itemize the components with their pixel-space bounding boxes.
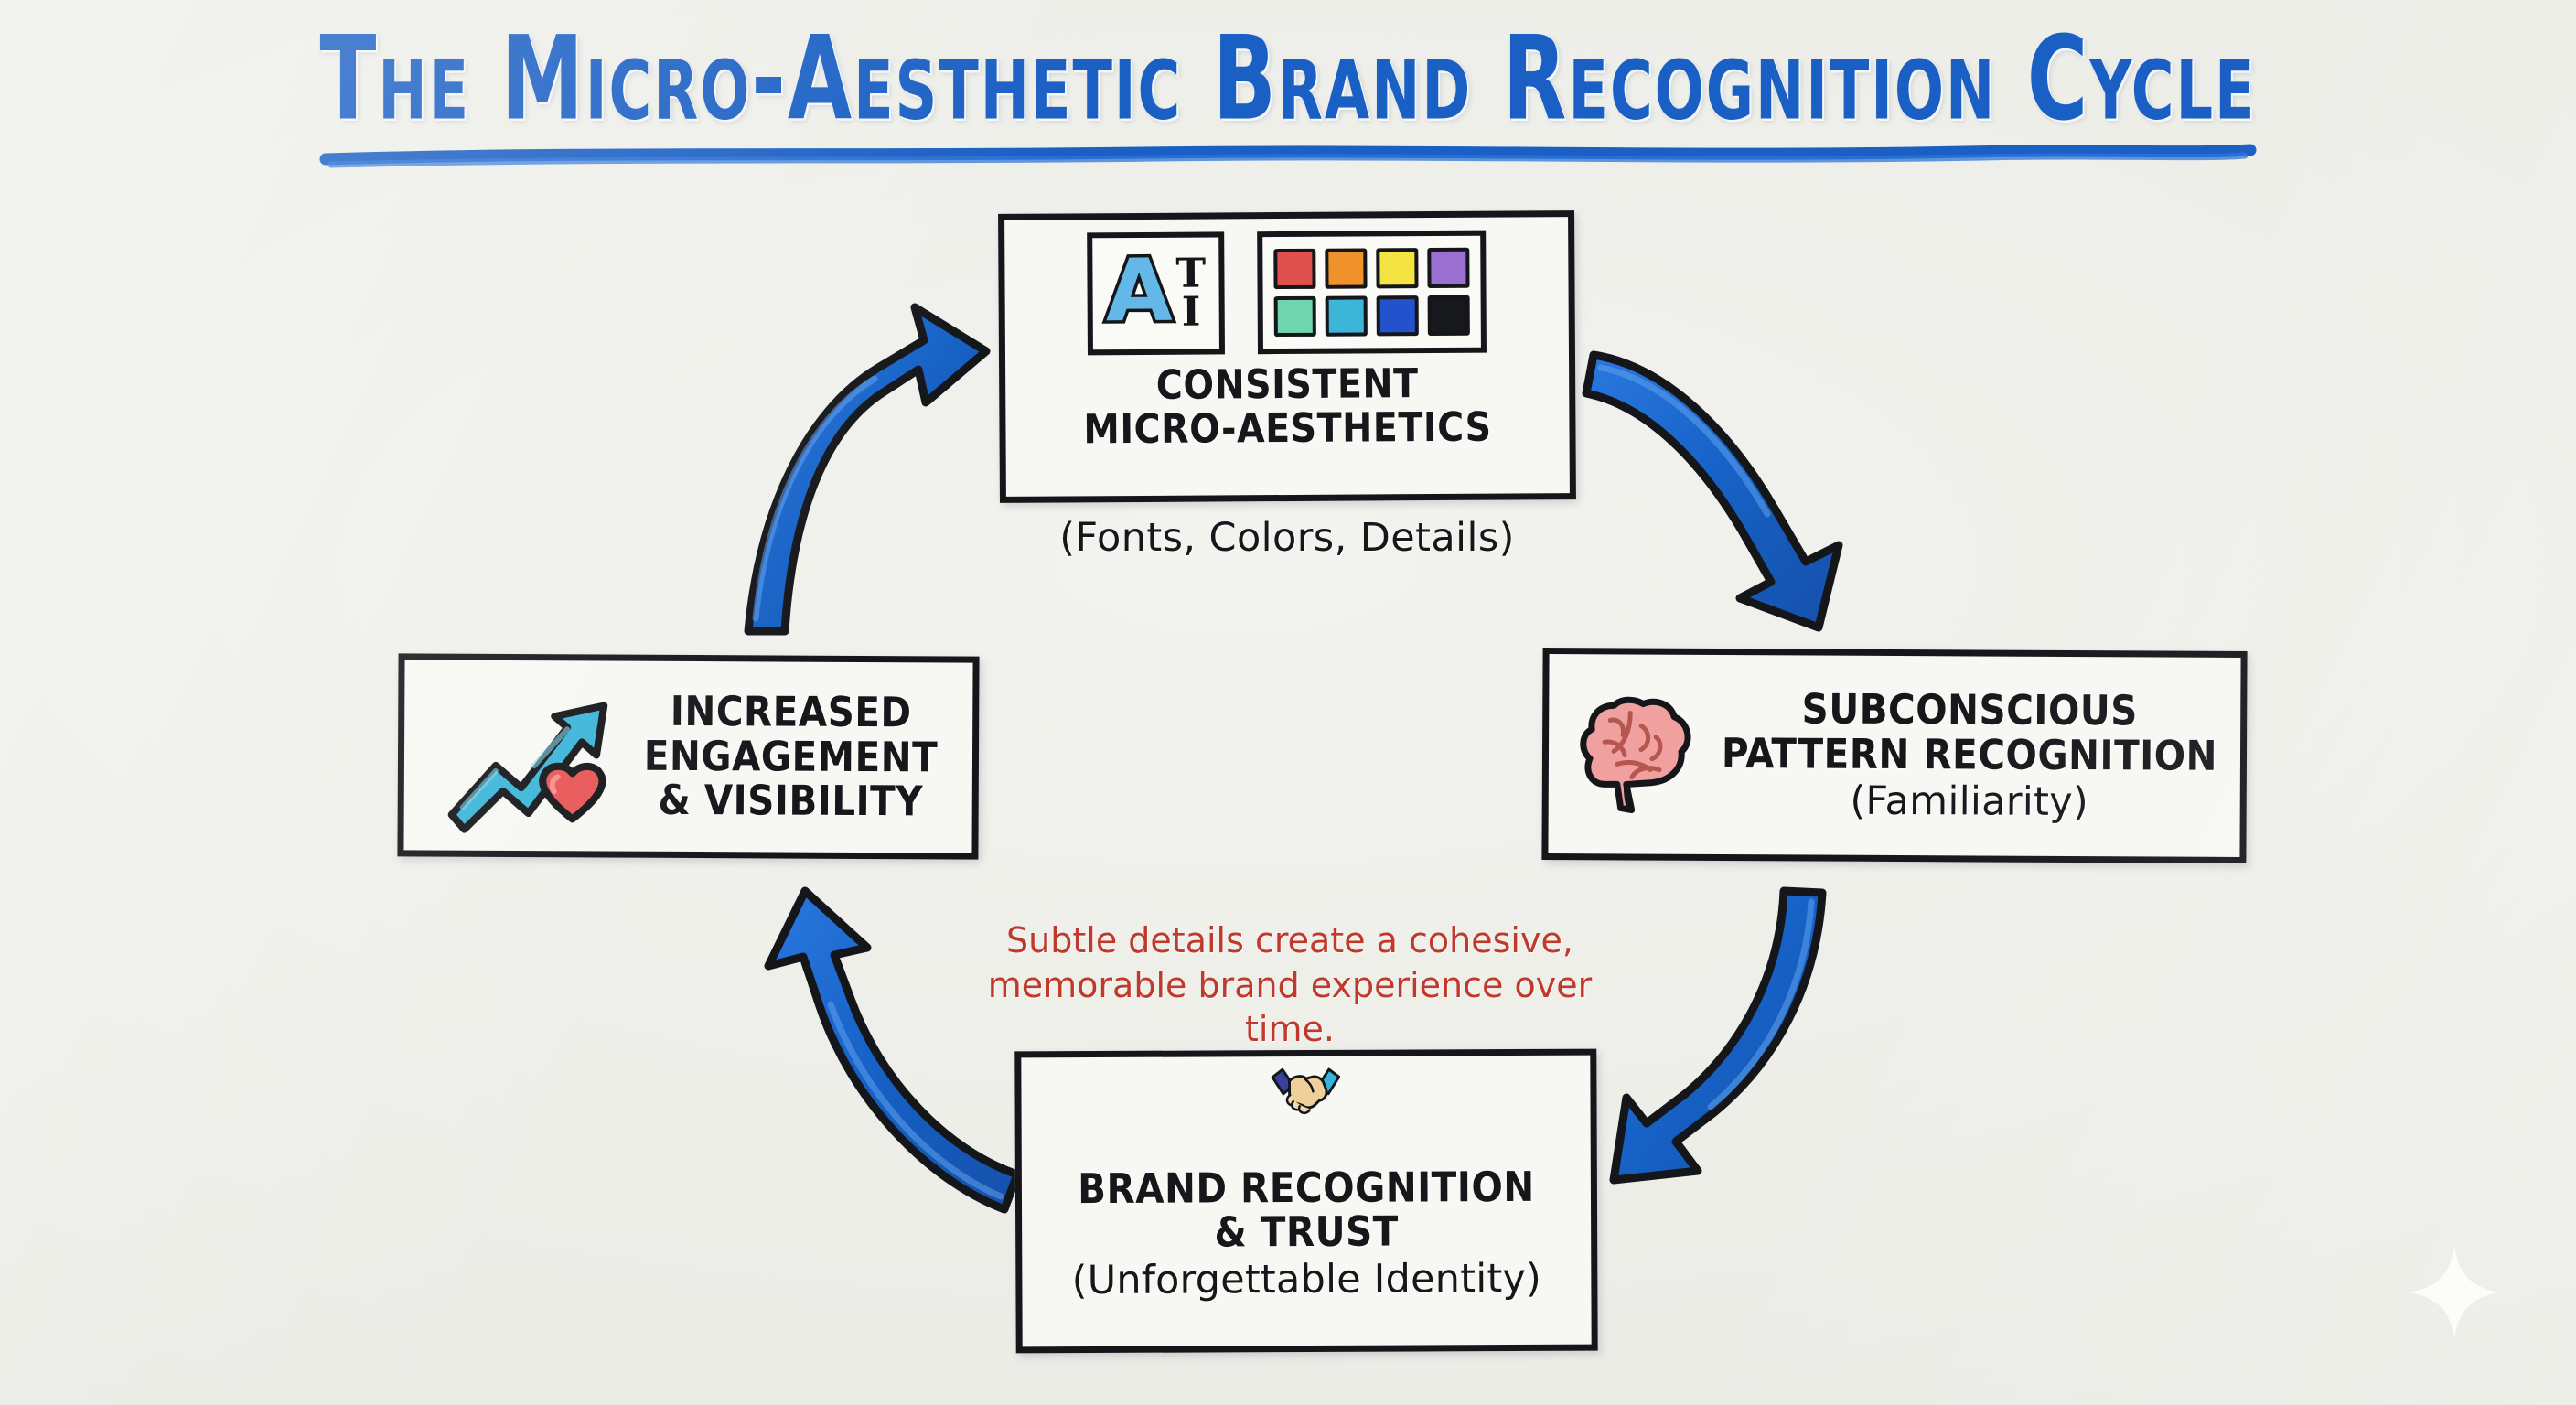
node-brand-recognition-trust[interactable]: BRAND RECOGNITION & TRUST (Unforgettable… <box>1014 1049 1597 1354</box>
node-title-subconscious-pattern-recognition: SUBCONSCIOUS PATTERN RECOGNITION (Famili… <box>1721 643 2217 870</box>
sparkle-icon <box>2404 1242 2505 1343</box>
palette-grid <box>1273 248 1470 337</box>
right-title-main: SUBCONSCIOUS PATTERN RECOGNITION <box>1722 685 2217 780</box>
swatch-black <box>1428 295 1470 336</box>
brain-icon <box>1577 689 1699 820</box>
color-palette-icon <box>1257 231 1487 355</box>
page-title-wrap: The Micro-Aesthetic Brand Recognition Cy… <box>0 20 2576 115</box>
node-title-consistent-micro-aesthetics: CONSISTENT MICRO-AESTHETICS <box>1083 362 1492 452</box>
node-consistent-micro-aesthetics[interactable]: A T I CONSISTENT MICRO-A <box>998 210 1576 503</box>
swatch-blue <box>1377 295 1419 336</box>
node-title-brand-recognition-trust: BRAND RECOGNITION & TRUST (Unforgettable… <box>1071 1121 1542 1346</box>
glyph-t: T <box>1175 255 1206 293</box>
node-subconscious-pattern-recognition[interactable]: SUBCONSCIOUS PATTERN RECOGNITION (Famili… <box>1541 648 2247 863</box>
node-increased-engagement-visibility[interactable]: INCREASED ENGAGEMENT & VISIBILITY <box>397 653 979 859</box>
swatch-red <box>1273 249 1315 289</box>
swatch-yellow <box>1376 248 1418 288</box>
center-caption: Subtle details create a cohesive, memora… <box>970 918 1610 1052</box>
title-underline <box>318 139 2258 170</box>
swatch-cyan <box>1326 295 1368 336</box>
top-node-icons: A T I <box>1087 231 1487 356</box>
right-subtitle-familiarity: (Familiarity) <box>1722 779 2217 824</box>
bottom-title-main: BRAND RECOGNITION & TRUST <box>1078 1163 1535 1257</box>
bottom-subtitle-unforgettable-identity: (Unforgettable Identity) <box>1072 1258 1542 1303</box>
node-title-increased-engagement-visibility: INCREASED ENGAGEMENT & VISIBILITY <box>643 690 938 824</box>
glyph-a: A <box>1106 253 1173 329</box>
node-subtitle-fonts-colors-details: (Fonts, Colors, Details) <box>999 515 1575 561</box>
swatch-purple <box>1427 248 1469 288</box>
heart-icon <box>542 767 603 820</box>
glyph-i: I <box>1182 295 1201 332</box>
swatch-orange <box>1325 248 1367 288</box>
page-title: The Micro-Aesthetic Brand Recognition Cy… <box>38 20 2538 136</box>
handshake-icon <box>1209 1066 1401 1121</box>
swatch-mint <box>1274 296 1316 337</box>
left-node-icons <box>442 678 626 834</box>
font-swatch-icon: A T I <box>1087 231 1225 355</box>
